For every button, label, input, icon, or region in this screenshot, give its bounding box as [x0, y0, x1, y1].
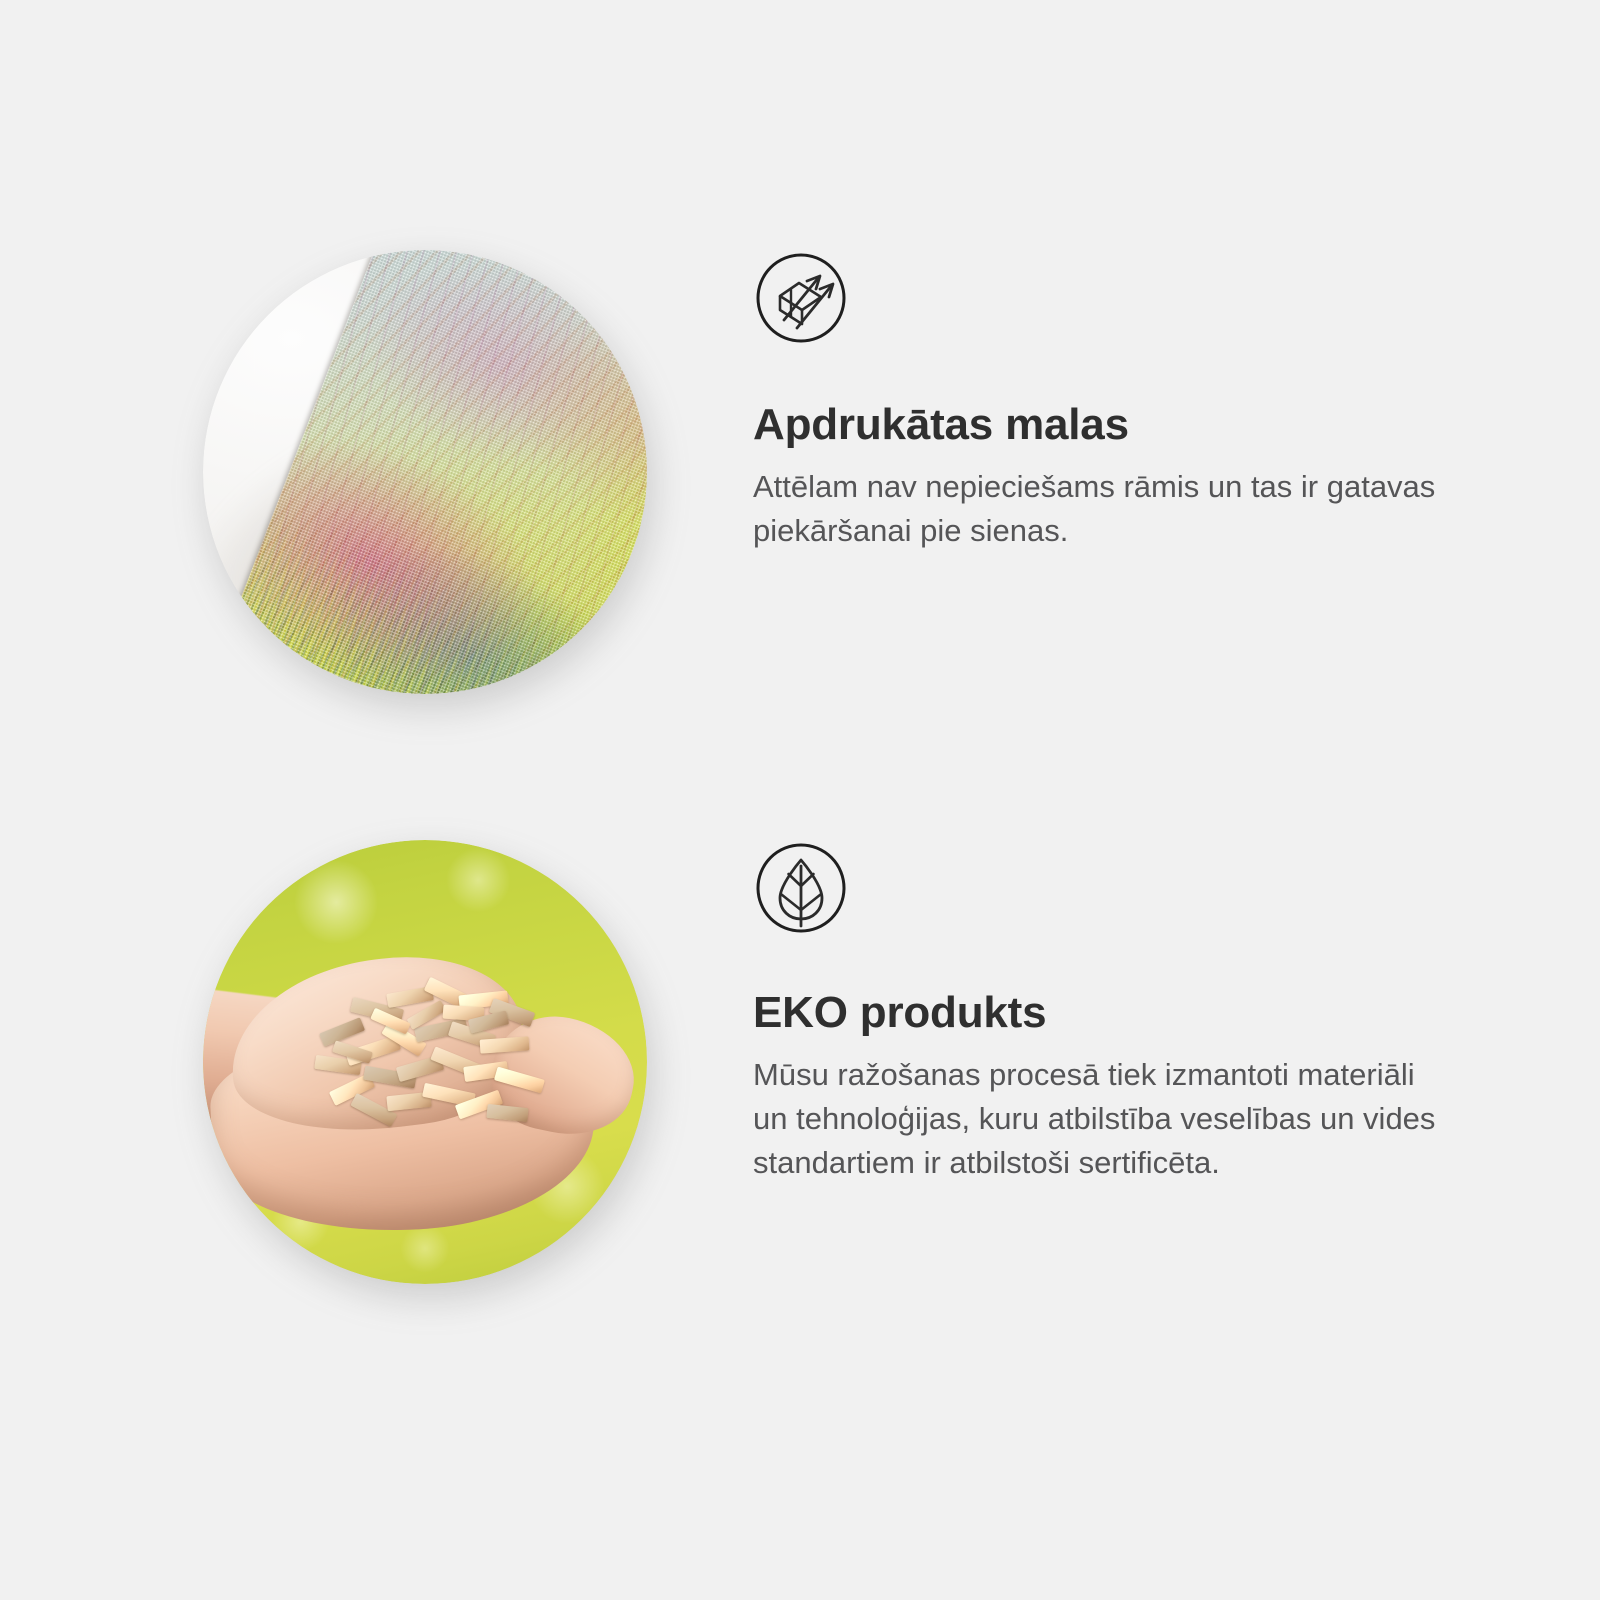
feature-copy: EKO produkts Mūsu ražošanas procesā tiek… [753, 840, 1483, 1185]
wood-chip [479, 1036, 529, 1053]
hands-holding-wood-chips-photo [203, 840, 647, 1284]
wood-chip-pile [310, 973, 568, 1124]
feature-block-printed-edges: Apdrukātas malas Attēlam nav nepieciešam… [0, 250, 1600, 770]
feature-description: Mūsu ražošanas procesā tiek izmantoti ma… [753, 1053, 1453, 1185]
feature-block-eco-product: EKO produkts Mūsu ražošanas procesā tiek… [0, 840, 1600, 1400]
wrapped-canvas-edges-icon [753, 250, 849, 346]
feature-title: Apdrukātas malas [753, 400, 1483, 449]
product-features-page: Apdrukātas malas Attēlam nav nepieciešam… [0, 0, 1600, 1600]
feature-copy: Apdrukātas malas Attēlam nav nepieciešam… [753, 250, 1483, 553]
wood-chip [487, 1104, 529, 1122]
feature-title: EKO produkts [753, 988, 1483, 1037]
leaf-icon [753, 840, 849, 936]
wood-chip [494, 1066, 545, 1093]
canvas-print-corner-photo [203, 250, 647, 694]
feature-description: Attēlam nav nepieciešams rāmis un tas ir… [753, 465, 1453, 553]
